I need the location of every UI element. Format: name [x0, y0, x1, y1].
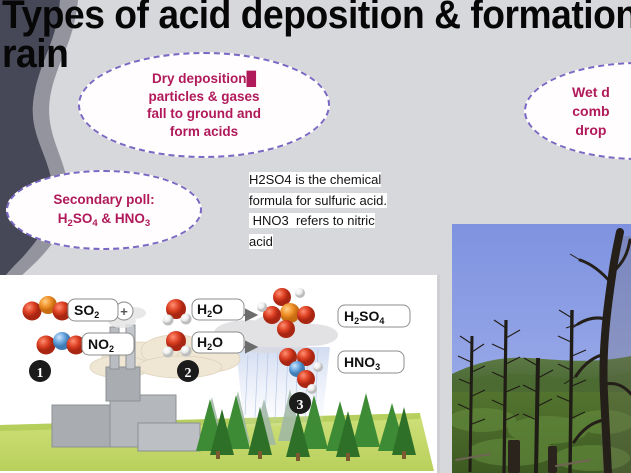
- formula-so: SO: [73, 211, 93, 226]
- wet-deposition-callout[interactable]: Wet d comb drop: [524, 62, 631, 160]
- diagram-panel-edge: [437, 275, 440, 473]
- chemistry-note-textbox[interactable]: H2SO4 is the chemical formula for sulfur…: [249, 170, 427, 252]
- svg-text:H2SO4: H2SO4: [344, 308, 384, 326]
- note-line4: acid: [249, 234, 273, 249]
- formula-so-sub: 4: [92, 218, 97, 229]
- secondary-pollutant-callout[interactable]: Secondary poll: H2SO4 & HNO3: [6, 170, 202, 250]
- slide-canvas: Types of acid deposition & formation rai…: [0, 0, 631, 473]
- svg-text:+: +: [120, 304, 128, 319]
- formula-hno: & HNO: [98, 211, 145, 226]
- svg-text:HNO3: HNO3: [344, 354, 380, 372]
- secondary-callout-line1: Secondary poll:: [53, 190, 154, 209]
- note-line2: formula for sulfuric acid.: [249, 193, 387, 208]
- page-title: Types of acid deposition & formation rai…: [2, 0, 631, 74]
- secondary-callout-formula: H2SO4 & HNO3: [53, 209, 154, 230]
- dry-callout-line3: fall to ground and: [147, 105, 261, 123]
- svg-text:3: 3: [297, 398, 304, 413]
- formula-h-sub: 2: [68, 218, 73, 229]
- svg-text:1: 1: [37, 366, 44, 381]
- dry-callout-line2: particles & gases: [147, 88, 261, 106]
- wet-callout-line1: Wet d: [572, 83, 610, 102]
- page-title-line2: rain: [2, 35, 631, 74]
- dead-forest-photo[interactable]: [452, 224, 631, 473]
- acid-rain-diagram[interactable]: + + SO2 NO2 H2O H2O H2SO4 HNO3: [0, 275, 440, 473]
- dry-deposition-callout[interactable]: Dry deposition█ particles & gases fall t…: [78, 52, 330, 158]
- note-line1: H2SO4 is the chemical: [249, 172, 381, 187]
- page-title-line1: Types of acid deposition & formation: [2, 0, 631, 37]
- wet-callout-line3: drop: [572, 121, 610, 140]
- dry-callout-line4: form acids: [147, 123, 261, 141]
- svg-text:2: 2: [185, 366, 192, 381]
- formula-h: H: [58, 211, 68, 226]
- wet-callout-line2: comb: [572, 102, 610, 121]
- dry-callout-line1: Dry deposition█: [147, 70, 261, 88]
- note-line3: HNO3 refers to nitric: [249, 213, 375, 228]
- formula-hno-sub: 3: [145, 218, 150, 229]
